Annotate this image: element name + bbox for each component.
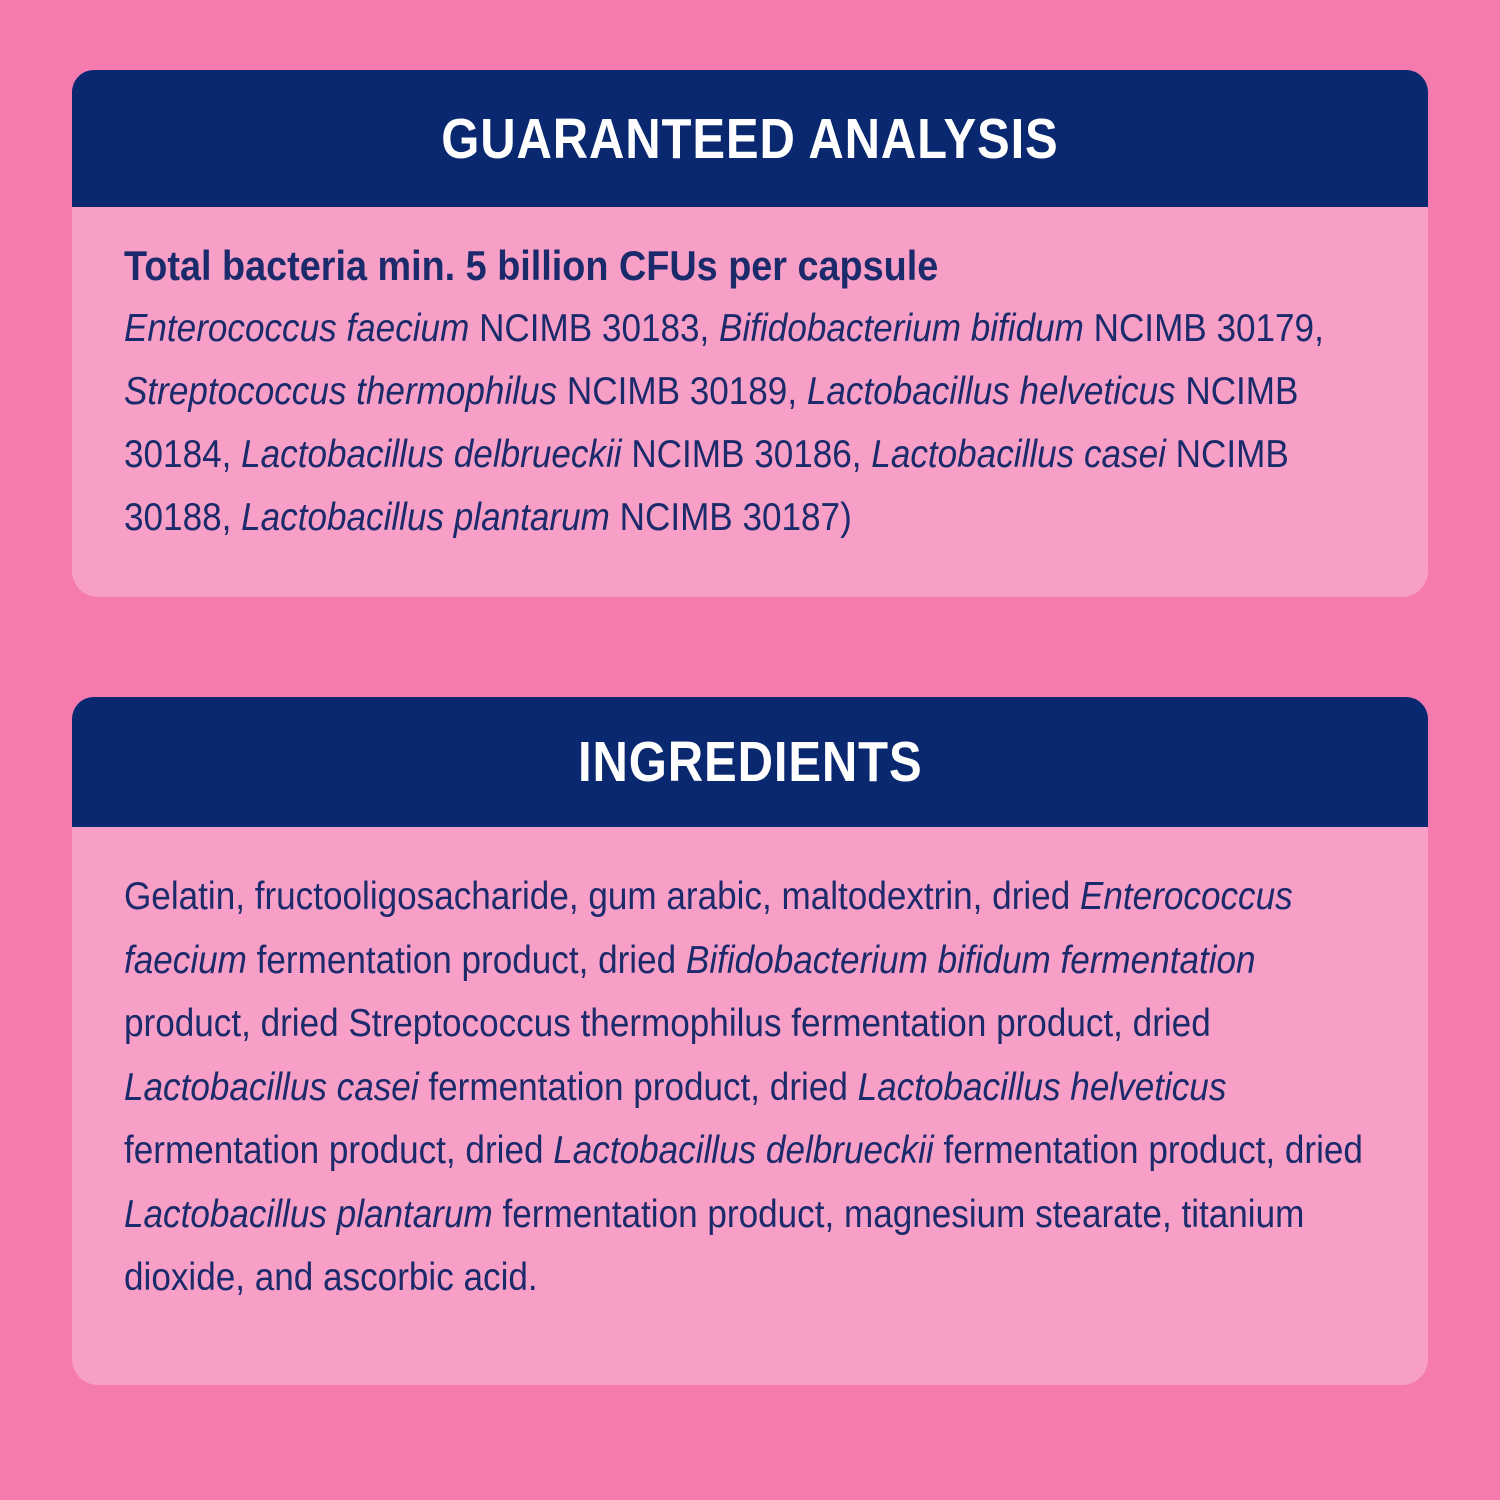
ingredients-card: INGREDIENTS Gelatin, fructooligosacharid… [72,697,1428,1385]
supplement-label-page: GUARANTEED ANALYSIS Total bacteria min. … [0,0,1500,1500]
guaranteed-analysis-card: GUARANTEED ANALYSIS Total bacteria min. … [72,70,1428,597]
guaranteed-analysis-title: GUARANTEED ANALYSIS [441,106,1058,172]
guaranteed-analysis-header: GUARANTEED ANALYSIS [72,70,1428,207]
ingredients-header: INGREDIENTS [72,697,1428,827]
ingredients-list-text: Gelatin, fructooligosacharide, gum arabi… [124,865,1380,1310]
guaranteed-analysis-body: Total bacteria min. 5 billion CFUs per c… [72,207,1428,597]
guaranteed-analysis-lead-line: Total bacteria min. 5 billion CFUs per c… [124,241,1380,291]
ingredients-title: INGREDIENTS [578,729,922,795]
ingredients-body: Gelatin, fructooligosacharide, gum arabi… [72,827,1428,1385]
guaranteed-analysis-strain-list: Enterococcus faecium NCIMB 30183, Bifido… [124,297,1380,550]
